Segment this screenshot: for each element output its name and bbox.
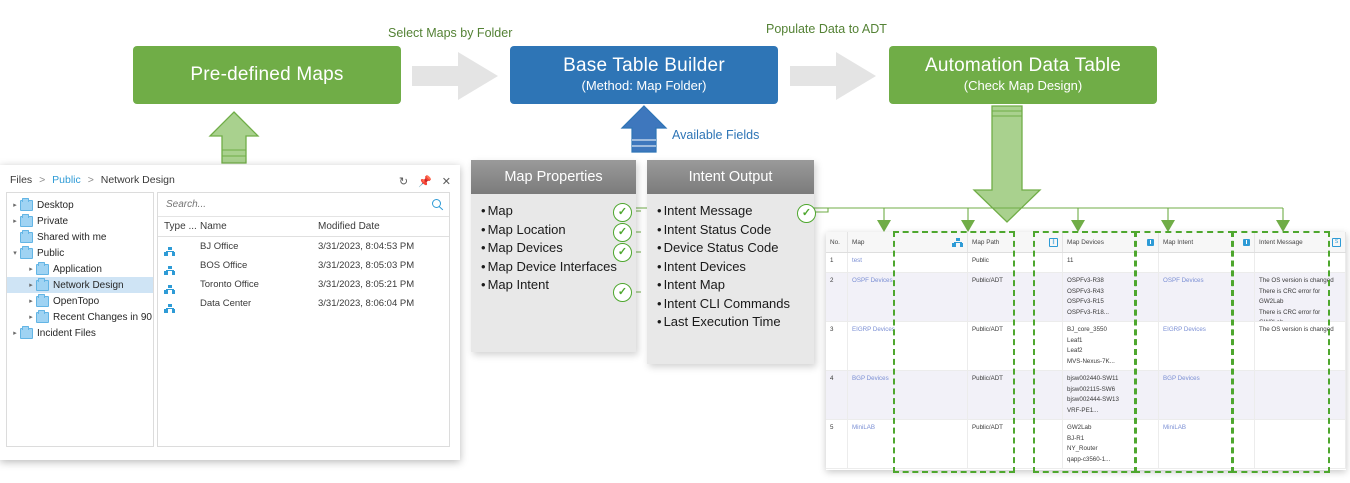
- intent-output-item: Intent Status Code: [647, 221, 814, 240]
- cell-no: 1: [826, 253, 848, 272]
- tree-item-desktop[interactable]: ▸Desktop: [7, 197, 153, 213]
- data-table-header: No.MapMap Path∥Map DevicesMap IntentInte…: [826, 232, 1346, 253]
- file-name-cell: Toronto Office: [200, 279, 318, 290]
- flow-arrow-label-2: Populate Data to ADT: [766, 22, 887, 36]
- file-row[interactable]: Data Center3/31/2023, 8:06:04 PM: [158, 294, 449, 313]
- folder-icon: [36, 312, 49, 323]
- column-arrow-heads: [877, 220, 1290, 232]
- column-label: Map Devices: [1067, 239, 1104, 246]
- cell-map-devices: bjsw002440-SW11bjsw002115-SW6bjsw002444-…: [1063, 371, 1159, 419]
- cell-map-devices: BJ_core_3550Leaf1Leaf2MVS-Nexus-7K...: [1063, 322, 1159, 370]
- folder-icon: [20, 200, 33, 211]
- tree-item-label: Recent Changes in 90 days: [53, 312, 154, 323]
- cell-map: EIGRP Devices: [848, 322, 968, 370]
- file-modified-cell: 3/31/2023, 8:04:53 PM: [318, 241, 449, 252]
- map-property-item: Map Location: [471, 221, 636, 240]
- tree-item-recent-changes-in-90-days[interactable]: ▸Recent Changes in 90 days: [7, 309, 153, 325]
- chevron-arrow-1: [412, 52, 500, 100]
- folder-icon: [36, 296, 49, 307]
- column-header-type[interactable]: Type ...: [158, 221, 200, 232]
- breadcrumb: Files > Public > Network Design: [10, 174, 175, 186]
- tree-item-label: OpenTopo: [53, 296, 99, 307]
- cell-intent-message: [1255, 371, 1346, 419]
- cell-intent-message: [1255, 253, 1346, 272]
- expander-icon[interactable]: ▾: [10, 249, 20, 257]
- cell-map-intent: EIGRP Devices: [1159, 322, 1255, 370]
- flow-arrow-label-1: Select Maps by Folder: [388, 26, 512, 40]
- tree-item-private[interactable]: ▸Private: [7, 213, 153, 229]
- intent-output-item: Intent Map: [647, 276, 814, 295]
- cell-map-devices: 11: [1063, 253, 1159, 272]
- check-icon-map-location: ✓: [613, 223, 632, 242]
- intent-output-item: Intent Devices: [647, 258, 814, 277]
- map-properties-title: Map Properties: [471, 160, 636, 194]
- message-icon[interactable]: S: [1332, 238, 1341, 247]
- file-name-cell: Data Center: [200, 298, 318, 309]
- column-label: Map Path: [972, 239, 999, 246]
- expander-icon[interactable]: ▸: [26, 265, 36, 273]
- flow-step-subtitle: (Method: Map Folder): [582, 79, 707, 93]
- intent-icon[interactable]: [1243, 239, 1250, 246]
- cell-map: test: [848, 253, 968, 272]
- cell-map-intent: OSPF Devices: [1159, 273, 1255, 321]
- column-label: Map Intent: [1163, 239, 1193, 246]
- map-properties-panel: Map Properties MapMap LocationMap Device…: [471, 160, 636, 352]
- breadcrumb-separator: >: [39, 174, 45, 186]
- arrow-up-predefined-maps: [210, 112, 258, 163]
- map-property-item: Map Devices: [471, 239, 636, 258]
- tree-item-label: Shared with me: [37, 232, 106, 243]
- tree-item-label: Network Design: [53, 280, 124, 291]
- check-icon-map-intent: ✓: [613, 283, 632, 302]
- folder-icon: [36, 264, 49, 275]
- data-table-row[interactable]: 3EIGRP DevicesPublic/ADTBJ_core_3550Leaf…: [826, 322, 1346, 371]
- tree-item-label: Application: [53, 264, 102, 275]
- file-row[interactable]: BOS Office3/31/2023, 8:05:03 PM: [158, 256, 449, 275]
- folder-icon: [20, 216, 33, 227]
- arrow-down-adt: [974, 106, 1040, 222]
- column-label: Intent Message: [1259, 239, 1303, 246]
- tree-item-public[interactable]: ▾Public: [7, 245, 153, 261]
- map-node-icon[interactable]: [952, 238, 963, 247]
- file-list-header: Type ... Name Modified Date: [158, 217, 449, 237]
- search-row[interactable]: [158, 193, 449, 217]
- file-modified-cell: 3/31/2023, 8:06:04 PM: [318, 298, 449, 309]
- file-modified-cell: 3/31/2023, 8:05:21 PM: [318, 279, 449, 290]
- file-row[interactable]: Toronto Office3/31/2023, 8:05:21 PM: [158, 275, 449, 294]
- cell-no: 4: [826, 371, 848, 419]
- data-column-header-intent-message[interactable]: Intent MessageS: [1255, 232, 1346, 252]
- map-property-item: Map Intent: [471, 276, 636, 295]
- column-header-name[interactable]: Name: [200, 221, 318, 232]
- map-property-item: Map: [471, 202, 636, 221]
- tree-item-opentopo[interactable]: ▸OpenTopo: [7, 293, 153, 309]
- path-icon[interactable]: ∥: [1049, 238, 1058, 247]
- cell-map-devices: OSPFv3-R38OSPFv3-R43OSPFv3-R15OSPFv3-R18…: [1063, 273, 1159, 321]
- flow-step-title: Pre-defined Maps: [190, 65, 343, 86]
- arrow-up-base-table-builder: [622, 106, 666, 152]
- cell-map-intent: [1159, 253, 1255, 272]
- cell-intent-message: The OS version is changed: [1255, 322, 1346, 370]
- pin-icon[interactable]: 📌: [418, 175, 432, 188]
- tree-item-label: Desktop: [37, 200, 74, 211]
- breadcrumb-current: Network Design: [101, 174, 175, 186]
- intent-output-title: Intent Output: [647, 160, 814, 194]
- folder-icon: [20, 248, 33, 259]
- cell-no: 5: [826, 420, 848, 468]
- expander-icon[interactable]: ▸: [10, 201, 20, 209]
- data-column-header-map-intent[interactable]: Map Intent: [1159, 232, 1255, 252]
- intent-output-item: Intent Message: [647, 202, 814, 221]
- file-row[interactable]: BJ Office3/31/2023, 8:04:53 PM: [158, 237, 449, 256]
- flow-step-automation-data-table[interactable]: Automation Data Table (Check Map Design): [889, 46, 1157, 104]
- search-icon[interactable]: [432, 199, 443, 210]
- data-column-header-map-devices[interactable]: Map Devices: [1063, 232, 1159, 252]
- search-input[interactable]: [164, 198, 398, 211]
- folder-icon: [20, 232, 33, 243]
- map-property-item: Map Device Interfaces: [471, 258, 636, 277]
- flow-step-title: Automation Data Table: [925, 56, 1121, 77]
- cell-map-intent: MiniLAB: [1159, 420, 1255, 468]
- data-table-row[interactable]: 2OSPF DevicesPublic/ADTOSPFv3-R38OSPFv3-…: [826, 273, 1346, 322]
- cell-map: BGP Devices: [848, 371, 968, 419]
- cell-map-path: Public: [968, 253, 1063, 272]
- cell-map: MiniLAB: [848, 420, 968, 468]
- data-table-row[interactable]: 4BGP DevicesPublic/ADTbjsw002440-SW11bjs…: [826, 371, 1346, 420]
- flow-step-predefined-maps[interactable]: Pre-defined Maps: [133, 46, 401, 104]
- tree-item-incident-files[interactable]: ▸Incident Files: [7, 325, 153, 341]
- data-table-row[interactable]: 5MiniLABPublic/ADTGW2LabBJ-R1NY_Routerqa…: [826, 420, 1346, 469]
- chevron-arrow-2: [790, 52, 878, 100]
- expander-icon[interactable]: ▸: [10, 217, 20, 225]
- data-table-body: 1testPublic112OSPF DevicesPublic/ADTOSPF…: [826, 253, 1346, 469]
- tree-item-application[interactable]: ▸Application: [7, 261, 153, 277]
- flow-step-title: Base Table Builder: [563, 56, 725, 77]
- folder-icon: [36, 280, 49, 291]
- map-properties-list: MapMap LocationMap DevicesMap Device Int…: [471, 202, 636, 295]
- cell-map-path: Public/ADT: [968, 420, 1063, 468]
- expander-icon[interactable]: ▸: [26, 297, 36, 305]
- intent-output-item: Device Status Code: [647, 239, 814, 258]
- cell-map-path: Public/ADT: [968, 273, 1063, 321]
- file-modified-cell: 3/31/2023, 8:05:03 PM: [318, 260, 449, 271]
- cell-map-intent: BGP Devices: [1159, 371, 1255, 419]
- cell-map-path: Public/ADT: [968, 371, 1063, 419]
- intent-output-list: Intent MessageIntent Status CodeDevice S…: [647, 202, 814, 332]
- file-list-rows: BJ Office3/31/2023, 8:04:53 PMBOS Office…: [158, 237, 449, 313]
- breadcrumb-root[interactable]: Files: [10, 174, 32, 186]
- expander-icon[interactable]: ▸: [26, 281, 36, 289]
- expander-icon[interactable]: ▸: [26, 313, 36, 321]
- file-list-pane[interactable]: Type ... Name Modified Date BJ Office3/3…: [157, 192, 450, 447]
- folder-tree[interactable]: ▸Desktop▸PrivateShared with me▾Public▸Ap…: [6, 192, 154, 447]
- intent-output-panel: Intent Output Intent MessageIntent Statu…: [647, 160, 814, 364]
- column-header-modified[interactable]: Modified Date: [318, 221, 449, 232]
- flow-step-base-table-builder[interactable]: Base Table Builder (Method: Map Folder): [510, 46, 778, 104]
- data-table-row[interactable]: 1testPublic11: [826, 253, 1346, 273]
- intent-output-item: Intent CLI Commands: [647, 295, 814, 314]
- check-icon-map-devices: ✓: [613, 243, 632, 262]
- tree-item-shared-with-me[interactable]: Shared with me: [7, 229, 153, 245]
- cell-map: OSPF Devices: [848, 273, 968, 321]
- tree-item-label: Public: [37, 248, 64, 259]
- breadcrumb-public[interactable]: Public: [52, 174, 81, 186]
- devices-icon[interactable]: [1147, 239, 1154, 246]
- tree-item-label: Private: [37, 216, 68, 227]
- file-explorer-window[interactable]: Files > Public > Network Design ↻ 📌 ✕ ▸D…: [0, 165, 460, 460]
- data-column-header-map-path[interactable]: Map Path∥: [968, 232, 1063, 252]
- close-icon[interactable]: ✕: [442, 175, 451, 188]
- check-icon-map: ✓: [613, 203, 632, 222]
- data-column-header-no-[interactable]: No.: [826, 232, 848, 252]
- tree-item-network-design[interactable]: ▸Network Design: [7, 277, 153, 293]
- cell-intent-message: The OS version is changedThere is CRC er…: [1255, 273, 1346, 321]
- window-controls: ↻ 📌 ✕: [399, 175, 451, 188]
- cell-map-path: Public/ADT: [968, 322, 1063, 370]
- check-icon-intent-message: ✓: [797, 204, 816, 223]
- refresh-icon[interactable]: ↻: [399, 175, 408, 188]
- cell-no: 3: [826, 322, 848, 370]
- tree-item-label: Incident Files: [37, 328, 96, 339]
- folder-icon: [20, 328, 33, 339]
- cell-no: 2: [826, 273, 848, 321]
- cell-map-devices: GW2LabBJ-R1NY_Routerqapp-c3560-1...: [1063, 420, 1159, 468]
- file-name-cell: BJ Office: [200, 241, 318, 252]
- expander-icon[interactable]: ▸: [10, 329, 20, 337]
- automation-data-table[interactable]: No.MapMap Path∥Map DevicesMap IntentInte…: [826, 232, 1346, 470]
- file-name-cell: BOS Office: [200, 260, 318, 271]
- intent-output-item: Last Execution Time: [647, 313, 814, 332]
- available-fields-label: Available Fields: [672, 128, 759, 142]
- column-label: Map: [852, 239, 864, 246]
- breadcrumb-separator: >: [88, 174, 94, 186]
- data-column-header-map[interactable]: Map: [848, 232, 968, 252]
- column-label: No.: [830, 239, 840, 246]
- flow-step-subtitle: (Check Map Design): [964, 79, 1083, 93]
- cell-intent-message: [1255, 420, 1346, 468]
